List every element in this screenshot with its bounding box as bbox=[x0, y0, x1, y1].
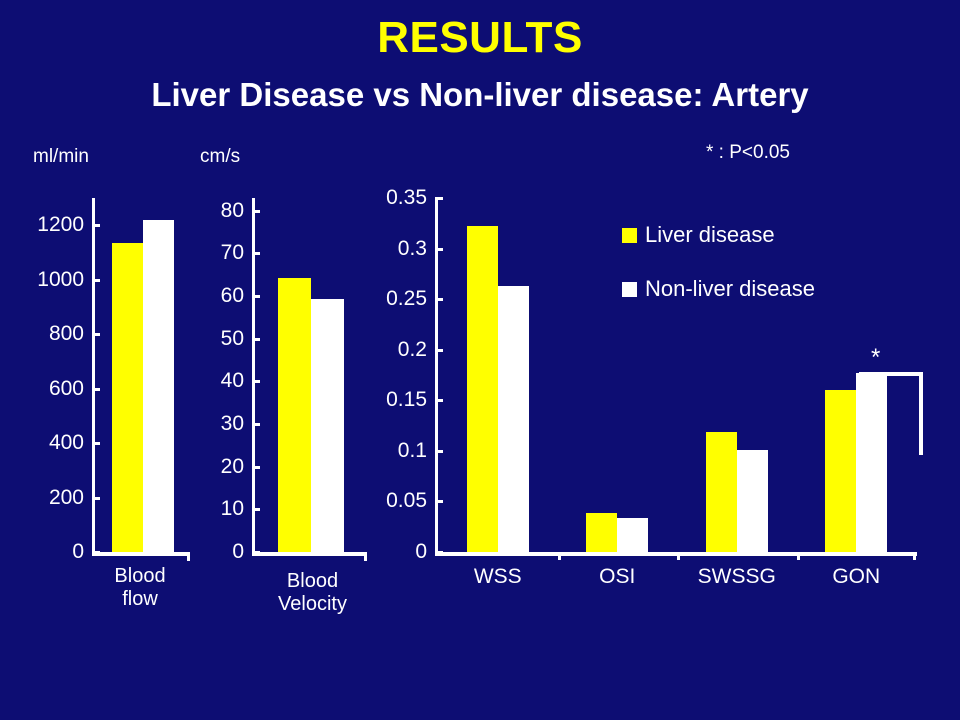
bar-group-blood-velocity bbox=[258, 198, 364, 552]
y-axis-tick-label: 0.05 bbox=[375, 489, 427, 513]
y-axis-tick-label: 600 bbox=[0, 377, 84, 401]
x-axis-tick-label: SWSSG bbox=[677, 565, 797, 589]
y-axis-tick-label: 20 bbox=[190, 455, 244, 479]
legend-label: Non-liver disease bbox=[645, 276, 815, 302]
y-axis-tick bbox=[435, 197, 443, 200]
x-axis-tick-label: WSS bbox=[438, 565, 558, 589]
y-axis-tick bbox=[435, 248, 443, 251]
bar-gon-liver bbox=[825, 390, 856, 552]
y-axis-tick-label: 70 bbox=[190, 241, 244, 265]
y-axis-tick-label: 40 bbox=[190, 369, 244, 393]
chart-blood-flow: Bloodflow 020040060080010001200 bbox=[0, 180, 200, 620]
bar-group-blood-flow bbox=[95, 198, 190, 552]
x-axis-end-tick bbox=[364, 552, 367, 561]
bracket-top-segment bbox=[859, 372, 923, 376]
category-label-blood-velocity: BloodVelocity bbox=[245, 570, 380, 616]
y-axis-tick bbox=[435, 298, 443, 301]
y-axis-tick-label: 1200 bbox=[0, 213, 84, 237]
unit-label-velocity: cm/s bbox=[200, 146, 240, 168]
y-axis-tick-label: 10 bbox=[190, 497, 244, 521]
chart-blood-velocity: BloodVelocity 01020304050607080 bbox=[190, 180, 390, 620]
y-axis-tick-label: 0 bbox=[190, 540, 244, 564]
y-axis-tick-label: 80 bbox=[190, 199, 244, 223]
y-axis-tick bbox=[435, 399, 443, 402]
bar-osi-liver bbox=[586, 513, 617, 552]
y-axis-tick-label: 0 bbox=[375, 540, 427, 564]
y-axis-tick bbox=[92, 442, 100, 445]
category-label-blood-flow: Bloodflow bbox=[75, 565, 205, 611]
y-axis-tick bbox=[252, 551, 260, 554]
bar-swssg-liver bbox=[706, 432, 737, 552]
y-axis-tick-label: 0.1 bbox=[375, 439, 427, 463]
y-axis-tick-label: 0.3 bbox=[375, 237, 427, 261]
bar-blood-velocity-liver bbox=[278, 278, 311, 552]
y-axis-tick-label: 60 bbox=[190, 284, 244, 308]
y-axis-tick-label: 0 bbox=[0, 540, 84, 564]
legend-swatch-icon bbox=[622, 228, 637, 243]
y-axis-tick bbox=[92, 333, 100, 336]
y-axis-tick-label: 0.15 bbox=[375, 388, 427, 412]
y-axis-tick-label: 0.35 bbox=[375, 186, 427, 210]
y-axis-tick bbox=[252, 508, 260, 511]
y-axis-tick bbox=[92, 279, 100, 282]
x-axis-label-group: WSSOSISWSSGGON bbox=[438, 565, 916, 595]
slide-canvas: RESULTS Liver Disease vs Non-liver disea… bbox=[0, 0, 960, 720]
y-axis-tick bbox=[252, 466, 260, 469]
y-axis-line bbox=[252, 198, 255, 554]
y-axis-tick-label: 1000 bbox=[0, 268, 84, 292]
y-axis-tick-label: 30 bbox=[190, 412, 244, 436]
y-axis-tick-label: 200 bbox=[0, 486, 84, 510]
y-axis-tick bbox=[252, 423, 260, 426]
y-axis-tick bbox=[435, 500, 443, 503]
x-axis-tick bbox=[797, 552, 800, 560]
x-axis-tick-group bbox=[438, 552, 916, 564]
bar-blood-flow-liver bbox=[112, 243, 143, 552]
x-axis-end-tick bbox=[913, 552, 916, 560]
y-axis-tick bbox=[92, 224, 100, 227]
x-axis-line bbox=[252, 552, 367, 556]
unit-label-flow: ml/min bbox=[33, 146, 89, 168]
significance-bracket: * bbox=[859, 372, 939, 492]
bar-wss-liver bbox=[467, 226, 498, 552]
y-axis-tick bbox=[252, 210, 260, 213]
page-subtitle: Liver Disease vs Non-liver disease: Arte… bbox=[0, 76, 960, 114]
legend-item: Non-liver disease bbox=[622, 276, 815, 302]
chart-legend: Liver diseaseNon-liver disease bbox=[622, 222, 815, 330]
bar-wss-nonliver bbox=[498, 286, 529, 552]
y-axis-tick bbox=[252, 295, 260, 298]
x-axis-tick bbox=[677, 552, 680, 560]
x-axis-tick-label: OSI bbox=[558, 565, 678, 589]
x-axis-line bbox=[92, 552, 190, 556]
bar-blood-velocity-nonliver bbox=[311, 299, 344, 552]
significance-asterisk: * bbox=[871, 348, 880, 368]
y-axis-tick bbox=[252, 338, 260, 341]
legend-item: Liver disease bbox=[622, 222, 815, 248]
y-axis-tick bbox=[435, 450, 443, 453]
y-axis-tick-label: 400 bbox=[0, 431, 84, 455]
y-axis-tick bbox=[92, 497, 100, 500]
y-axis-tick-label: 0.2 bbox=[375, 338, 427, 362]
y-axis-tick bbox=[435, 349, 443, 352]
bar-blood-flow-nonliver bbox=[143, 220, 174, 552]
y-axis-tick-label: 0.25 bbox=[375, 287, 427, 311]
y-axis-tick bbox=[252, 380, 260, 383]
legend-label: Liver disease bbox=[645, 222, 775, 248]
bar-swssg-nonliver bbox=[737, 450, 768, 552]
page-title: RESULTS bbox=[0, 14, 960, 62]
bracket-right-segment bbox=[919, 372, 923, 455]
y-axis-tick bbox=[252, 252, 260, 255]
bracket-left-segment bbox=[859, 372, 863, 400]
x-axis-tick bbox=[558, 552, 561, 560]
y-axis-tick-label: 800 bbox=[0, 322, 84, 346]
y-axis-tick bbox=[92, 388, 100, 391]
bar-osi-nonliver bbox=[617, 518, 648, 552]
y-axis-tick bbox=[92, 551, 100, 554]
significance-note: * : P<0.05 bbox=[706, 142, 790, 164]
y-axis-tick bbox=[435, 551, 443, 554]
y-axis-tick-label: 50 bbox=[190, 327, 244, 351]
x-axis-tick-label: GON bbox=[797, 565, 917, 589]
legend-swatch-icon bbox=[622, 282, 637, 297]
